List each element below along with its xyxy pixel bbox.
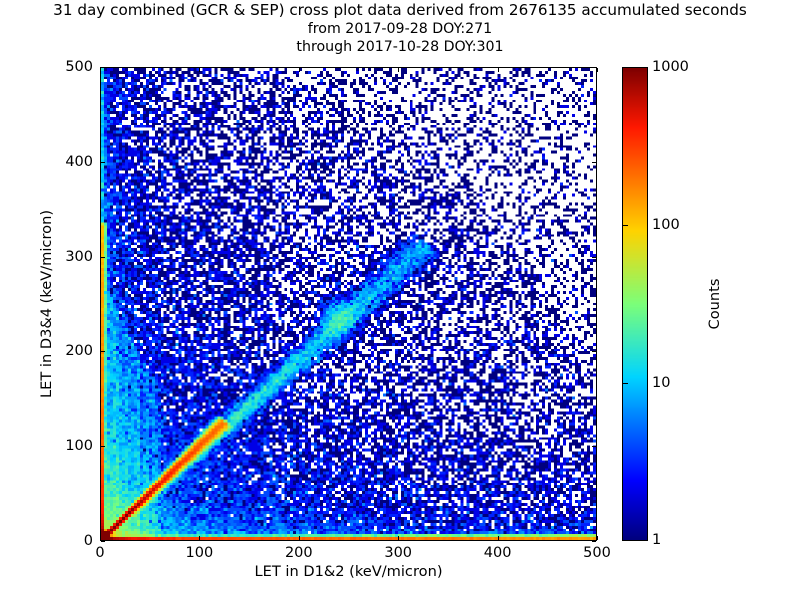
x-tick	[100, 68, 101, 72]
y-tick	[592, 446, 596, 447]
x-tick-label: 0	[95, 545, 104, 561]
colorbar-tick	[623, 540, 628, 541]
y-tick	[101, 351, 105, 352]
x-tick-label: 500	[583, 545, 611, 561]
y-tick	[101, 162, 105, 163]
scatter-heatmap-canvas	[101, 68, 596, 540]
title-line-3: through 2017-10-28 DOY:301	[0, 38, 800, 56]
y-axis-label: LET in D3&4 (keV/micron)	[38, 67, 55, 541]
x-tick	[199, 68, 200, 72]
colorbar-tick	[623, 225, 628, 226]
figure-title: 31 day combined (GCR & SEP) cross plot d…	[0, 0, 800, 56]
y-tick	[592, 351, 596, 352]
x-tick-label: 400	[484, 545, 512, 561]
x-tick	[199, 536, 200, 540]
colorbar-label: Counts	[706, 67, 723, 541]
y-tick	[101, 257, 105, 258]
x-tick	[299, 68, 300, 72]
colorbar-tick	[623, 383, 628, 384]
title-line-1: 31 day combined (GCR & SEP) cross plot d…	[0, 0, 800, 20]
colorbar-tick-label: 1000	[652, 59, 689, 75]
x-tick	[398, 68, 399, 72]
x-tick	[498, 68, 499, 72]
x-tick-label: 300	[384, 545, 412, 561]
colorbar-tick-label: 10	[652, 375, 670, 391]
x-axis-label: LET in D1&2 (keV/micron)	[100, 563, 597, 580]
x-tick-label: 100	[186, 545, 214, 561]
y-tick	[592, 162, 596, 163]
y-tick	[592, 541, 596, 542]
x-tick	[100, 536, 101, 540]
colorbar-tick-label: 1	[652, 532, 661, 548]
colorbar-tick	[623, 67, 628, 68]
figure-root: 31 day combined (GCR & SEP) cross plot d…	[0, 0, 800, 600]
x-tick-label: 200	[285, 545, 313, 561]
colorbar-gradient	[623, 68, 647, 540]
y-tick	[101, 541, 105, 542]
y-tick	[592, 257, 596, 258]
y-tick	[101, 446, 105, 447]
x-tick	[398, 536, 399, 540]
x-tick	[299, 536, 300, 540]
x-tick	[498, 536, 499, 540]
y-tick	[592, 67, 596, 68]
plot-area	[100, 67, 597, 541]
x-tick	[597, 536, 598, 540]
x-tick	[597, 68, 598, 72]
colorbar	[622, 67, 648, 541]
y-tick	[101, 67, 105, 68]
colorbar-tick-label: 100	[652, 217, 680, 233]
title-line-2: from 2017-09-28 DOY:271	[0, 20, 800, 38]
